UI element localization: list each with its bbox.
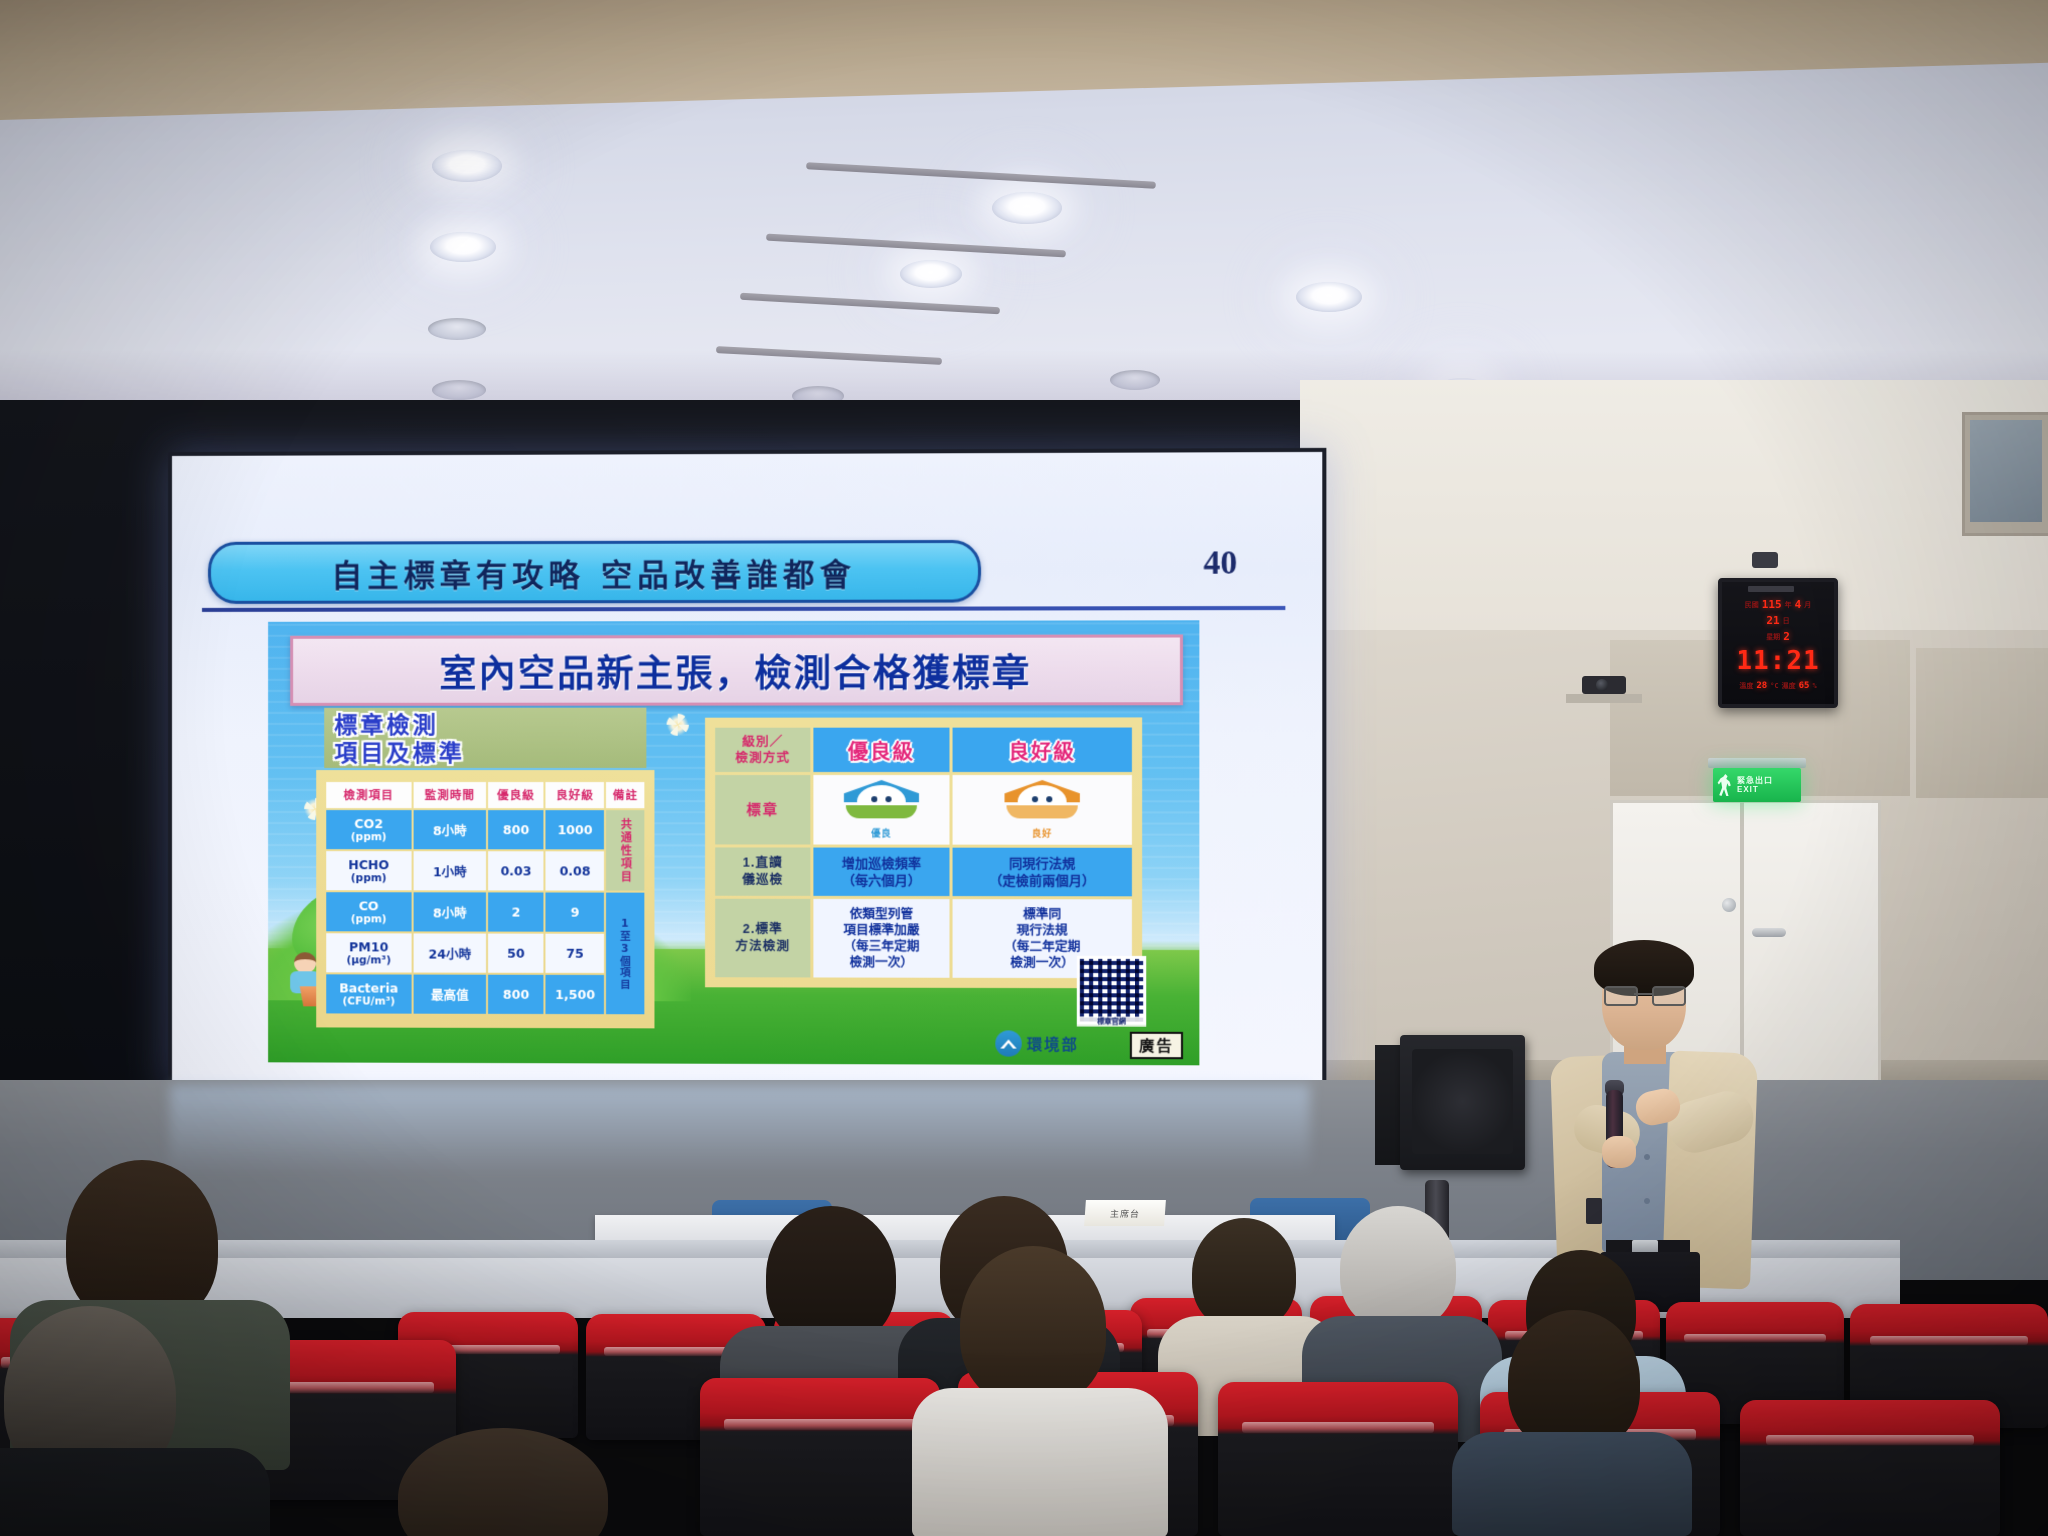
ministry-mark-icon <box>995 1030 1021 1056</box>
cell-good: 0.08 <box>546 851 604 890</box>
table-row: PM10(μg/m³) 24小時 50 75 <box>326 933 644 973</box>
cell-excellent: 800 <box>488 810 544 849</box>
presenter <box>1540 940 1770 1300</box>
cell-good-logo: 良好 <box>953 775 1132 845</box>
clock-weekday: 2 <box>1783 630 1790 643</box>
cell-line2: （每六個月） <box>816 872 946 889</box>
glasses-lens-right <box>1652 986 1686 1006</box>
left-table-body: 檢測項目 監測時間 優良級 良好級 備註 CO2(ppm) 8小時 800 10… <box>316 770 654 1028</box>
logo-eye <box>886 796 892 802</box>
cell-good: 9 <box>546 893 604 932</box>
cell-line4: 檢測一次） <box>816 954 946 970</box>
audience-shoulders <box>912 1388 1168 1536</box>
col-header-time: 監測時間 <box>413 782 486 808</box>
item-name: PM10 <box>349 939 388 954</box>
logo-base <box>1007 805 1078 818</box>
table-header-row: 級別／ 檢測方式 優良級 良好級 <box>715 728 1132 772</box>
clock-day: 21 <box>1766 614 1779 627</box>
audience-head <box>1340 1206 1456 1330</box>
cell-line1: 標準同 <box>956 906 1129 922</box>
clock-day-unit: 日 <box>1783 616 1790 626</box>
left-table-title-line1: 標章檢測 <box>334 712 636 740</box>
logo-base <box>846 805 917 818</box>
cell-item: HCHO(ppm) <box>326 851 411 890</box>
row-label-line2: 儀巡檢 <box>718 872 807 889</box>
ceiling-downlight <box>992 192 1062 224</box>
clock-year-unit: 年 <box>1785 600 1792 610</box>
glasses-lens-left <box>1604 986 1638 1006</box>
cell-time: 最高值 <box>413 975 486 1014</box>
camera-shelf <box>1566 694 1642 703</box>
presenter-left-hand <box>1602 1136 1636 1168</box>
cell-line1: 同現行法規 <box>956 855 1129 872</box>
ceiling-downlight <box>1296 282 1362 312</box>
nameplate: 主席台 <box>1084 1200 1166 1226</box>
audience-head <box>1192 1218 1296 1330</box>
cell-excellent-logo: 優良 <box>813 775 949 845</box>
auditorium-seat[interactable] <box>700 1378 940 1536</box>
eyeglasses <box>1604 986 1684 1002</box>
corner-header: 級別／ 檢測方式 <box>715 728 810 772</box>
poster-headline-text: 室內空品新主張，檢測合格獲標章 <box>439 643 1031 698</box>
screenshot-root: 民國 115 年 4 月 21 日 星期 2 11:21 溫度 28 °C 濕度… <box>0 0 2048 1536</box>
cell-line2: 項目標準加嚴 <box>816 922 946 938</box>
table-row: HCHO(ppm) 1小時 0.03 0.08 <box>326 851 644 890</box>
ministry-label: 環境部 <box>1027 1033 1079 1054</box>
remark-line-a: 1至3個項目 <box>619 917 631 989</box>
shirt-button <box>1644 1154 1650 1160</box>
projection-screen: 自主標章有攻略 空品改善誰都會 40 室內空品新主張，檢測合格獲標章 <box>168 448 1326 1096</box>
door-handle[interactable] <box>1752 928 1786 937</box>
exit-sign-bracket <box>1708 758 1806 768</box>
ceiling-downlight <box>900 260 962 288</box>
pa-speaker <box>1400 1035 1525 1170</box>
audience-head <box>766 1206 896 1346</box>
slide-surface: 自主標章有攻略 空品改善誰都會 40 室內空品新主張，檢測合格獲標章 <box>172 452 1322 1092</box>
right-table-body: 級別／ 檢測方式 優良級 良好級 標章 <box>705 717 1142 988</box>
right-wall-upper <box>1300 380 2048 630</box>
running-person-icon <box>1717 774 1733 796</box>
child-head <box>294 952 316 973</box>
house-smile-icon <box>1005 780 1080 820</box>
clock-temp: 28 <box>1756 681 1767 691</box>
floor-reflection <box>170 1085 1310 1175</box>
ministry-logo: 環境部 <box>995 1030 1079 1057</box>
cell-excellent: 2 <box>488 892 544 931</box>
certification-levels-table: 級別／ 檢測方式 優良級 良好級 標章 <box>705 717 1142 988</box>
audience-head <box>1508 1310 1640 1452</box>
col-header-good: 良好級 <box>546 782 604 808</box>
cell-excellent-direct: 增加巡檢頻率 （每六個月） <box>813 848 949 897</box>
cell-line2: （定檢前兩個月） <box>956 872 1129 889</box>
left-table-title: 標章檢測 項目及標準 <box>334 712 636 768</box>
logo-eye <box>1032 796 1038 802</box>
row-label-direct-reading: 1.直讀 儀巡檢 <box>715 847 810 895</box>
exit-sign-label-en: EXIT <box>1737 785 1773 794</box>
glasses-bridge <box>1634 993 1652 995</box>
clock-month: 4 <box>1795 598 1802 611</box>
table-row: 1.直讀 儀巡檢 增加巡檢頻率 （每六個月） 同現行法規 （定檢前兩個月） <box>715 847 1132 896</box>
clock-temp-label: 溫度 <box>1739 681 1753 691</box>
ceiling-downlight <box>430 232 496 262</box>
clock-year-label: 民國 <box>1745 600 1759 610</box>
corner-header-line2: 檢測方式 <box>718 750 807 766</box>
clock-weekday-label: 星期 <box>1766 632 1780 642</box>
table-row: 2.標準 方法檢測 依類型列管 項目標準加嚴 （每三年定期 檢測一次） <box>715 899 1132 978</box>
slide-page-number: 40 <box>1203 545 1237 583</box>
auditorium-seat[interactable] <box>1740 1400 2000 1536</box>
window-glass <box>1970 420 2042 522</box>
cell-item: CO(ppm) <box>326 892 411 931</box>
cell-time: 24小時 <box>413 933 486 972</box>
qr-code-pattern <box>1080 959 1143 1022</box>
table-row: CO2(ppm) 8小時 800 1000 共通性項目 <box>326 810 644 849</box>
cell-item: PM10(μg/m³) <box>326 933 411 972</box>
item-name: Bacteria <box>339 980 398 995</box>
cell-excellent-standard: 依類型列管 項目標準加嚴 （每三年定期 檢測一次） <box>813 899 949 978</box>
audience-shoulders <box>1452 1432 1692 1536</box>
house-smile-icon <box>844 780 919 820</box>
logo-eye <box>1046 796 1052 802</box>
row-label-badge: 標章 <box>715 775 810 844</box>
row-label-standard-method: 2.標準 方法檢測 <box>715 899 810 978</box>
cell-good-direct: 同現行法規 （定檢前兩個月） <box>953 848 1132 897</box>
logo-caption: 良好 <box>955 826 1130 839</box>
clock-temp-unit: °C <box>1770 682 1778 690</box>
cell-line3: （每三年定期 <box>816 938 946 954</box>
audience-head <box>960 1246 1106 1406</box>
digital-clock: 民國 115 年 4 月 21 日 星期 2 11:21 溫度 28 °C 濕度… <box>1718 578 1838 708</box>
item-unit: (μg/m³) <box>327 954 410 966</box>
ceiling-downlight-off <box>428 318 486 340</box>
cell-time: 1小時 <box>413 851 486 890</box>
poster-artwork: 室內空品新主張，檢測合格獲標章 <box>268 620 1199 1065</box>
right-table-grid: 級別／ 檢測方式 優良級 良好級 標章 <box>712 724 1135 981</box>
cell-line1: 增加巡檢頻率 <box>816 855 946 872</box>
item-name: HCHO <box>348 857 389 872</box>
auditorium-seat[interactable] <box>1218 1382 1458 1536</box>
cell-item: Bacteria(CFU/m³) <box>326 974 411 1013</box>
flower-decoration <box>667 714 689 736</box>
cell-time: 8小時 <box>413 892 486 931</box>
cell-excellent: 50 <box>488 934 544 973</box>
camera <box>1582 676 1626 694</box>
item-name: CO <box>359 898 379 913</box>
table-header-row: 檢測項目 監測時間 優良級 良好級 備註 <box>326 782 644 808</box>
slide-header-pill: 自主標章有攻略 空品改善誰都會 <box>208 540 981 604</box>
clock-month-unit: 月 <box>1804 600 1811 610</box>
item-unit: (ppm) <box>327 913 410 925</box>
left-table-grid: 檢測項目 監測時間 優良級 良好級 備註 CO2(ppm) 8小時 800 10… <box>324 780 646 1016</box>
logo-eye <box>871 796 877 802</box>
left-table-title-line2: 項目及標準 <box>334 740 636 768</box>
item-unit: (ppm) <box>327 872 410 884</box>
table-row: 標章 <box>715 775 1132 845</box>
cell-item: CO2(ppm) <box>326 810 411 849</box>
cell-good: 75 <box>546 934 604 973</box>
audience-shoulders <box>0 1448 270 1536</box>
cell-excellent: 800 <box>488 975 544 1014</box>
clock-time: 11:21 <box>1736 646 1819 676</box>
col-header-item: 檢測項目 <box>326 782 411 808</box>
ceiling-downlight <box>432 150 502 182</box>
slide-header-title: 自主標章有攻略 空品改善誰都會 <box>331 549 856 595</box>
table-row: Bacteria(CFU/m³) 最高值 800 1,500 <box>326 974 644 1014</box>
remark-common-items: 共通性項目 <box>606 810 644 890</box>
door-knob[interactable] <box>1722 898 1736 912</box>
advertisement-badge: 廣告 <box>1130 1032 1183 1059</box>
item-unit: (ppm) <box>327 831 410 843</box>
cell-line2: 現行法規 <box>956 922 1129 938</box>
wall-panel <box>1916 648 2048 798</box>
logo-caption: 優良 <box>815 826 947 839</box>
emergency-exit-sign: 緊急出口 EXIT <box>1713 768 1801 802</box>
table-row: CO(ppm) 8小時 2 9 1至3個項目 <box>326 892 644 932</box>
cell-good: 1000 <box>546 810 604 849</box>
row-label-line1: 1.直讀 <box>718 855 807 872</box>
qr-code-caption: 標章官網 <box>1077 1016 1146 1026</box>
col-header-remark: 備註 <box>606 782 644 808</box>
presenter-badge <box>1586 1198 1602 1224</box>
projector-mount <box>1752 552 1778 568</box>
clock-humidity: 65 <box>1799 681 1810 691</box>
col-header-good: 良好級 <box>953 728 1132 772</box>
clock-brand-plate <box>1748 586 1794 592</box>
remark-conditional-items: 1至3個項目 <box>606 893 644 1015</box>
clock-year: 115 <box>1762 598 1782 611</box>
col-header-excellent: 優良級 <box>488 782 544 808</box>
qr-code[interactable]: 標章官網 <box>1077 956 1146 1025</box>
shirt-button <box>1644 1198 1650 1204</box>
col-header-excellent: 優良級 <box>813 728 949 772</box>
poster-headline-banner: 室內空品新主張，檢測合格獲標章 <box>290 634 1183 705</box>
cell-line1: 依類型列管 <box>816 906 946 922</box>
row-label-line2: 方法檢測 <box>718 938 807 955</box>
slide-divider <box>202 606 1285 612</box>
cell-good: 1,500 <box>546 975 604 1014</box>
exit-sign-label-zh: 緊急出口 <box>1737 776 1773 785</box>
item-unit: (CFU/m³) <box>327 995 410 1007</box>
row-label-line1: 2.標準 <box>718 921 807 938</box>
item-name: CO2 <box>354 816 383 831</box>
cell-time: 8小時 <box>413 810 486 849</box>
corner-header-line1: 級別／ <box>718 734 807 750</box>
cell-excellent: 0.03 <box>488 851 544 890</box>
clock-humidity-unit: % <box>1812 682 1816 690</box>
cell-line3: （每二年定期 <box>956 938 1129 954</box>
clock-humidity-label: 濕度 <box>1782 681 1796 691</box>
